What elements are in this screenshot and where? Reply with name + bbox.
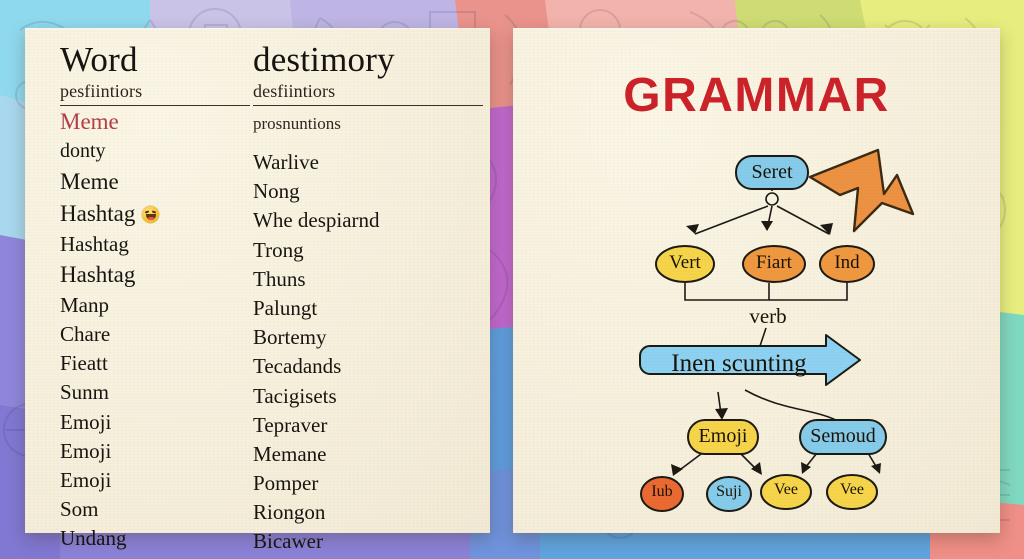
node-banner-inen-scunting[interactable] <box>640 335 860 385</box>
banner-to-semoud-connector <box>745 390 836 420</box>
entry-hashtag-emoji[interactable]: Hashtag <box>60 198 250 230</box>
entry-bicawer[interactable]: Bicawer <box>253 527 483 556</box>
entry-chare[interactable]: Chare <box>60 320 250 349</box>
emoji-children-arrowheads <box>671 462 762 476</box>
poster-stage: Word pesfiintiors Meme donty Meme Hashta… <box>0 0 1024 559</box>
node-fiart[interactable] <box>743 246 805 282</box>
entry-trong[interactable]: Trong <box>253 236 483 265</box>
column-2-pronunciation: prosnuntions <box>253 114 483 134</box>
node-vee-1[interactable] <box>761 475 811 509</box>
entry-tacigisets[interactable]: Tacigisets <box>253 382 483 411</box>
entry-warlive[interactable]: Warlive <box>253 148 483 177</box>
entry-riongon[interactable]: Riongon <box>253 498 483 527</box>
entry-donty[interactable]: donty <box>60 138 250 166</box>
entry-undang[interactable]: Undang <box>60 524 250 553</box>
dictionary-body: Word pesfiintiors Meme donty Meme Hashta… <box>25 28 490 533</box>
entry-thuns[interactable]: Thuns <box>253 265 483 294</box>
node-semoud[interactable] <box>800 420 886 454</box>
column-2-subhead: desfiintiors <box>253 81 483 102</box>
entry-manp[interactable]: Manp <box>60 291 250 320</box>
node-vee-2[interactable] <box>827 475 877 509</box>
entry-som[interactable]: Som <box>60 495 250 524</box>
entry-fieatt[interactable]: Fieatt <box>60 349 250 378</box>
entry-sunm[interactable]: Sunm <box>60 378 250 407</box>
banner-to-emoji-arrowhead <box>715 408 728 420</box>
connector-arrowheads <box>686 221 833 235</box>
dictionary-column-1: Word pesfiintiors Meme donty Meme Hashta… <box>60 28 250 559</box>
zigzag-arrow-icon <box>810 150 913 231</box>
entry-whe-despiarnd[interactable]: Whe despiarnd <box>253 206 483 235</box>
entry-emoji-3[interactable]: Emoji <box>60 466 250 495</box>
entry-tecadands[interactable]: Tecadands <box>253 352 483 381</box>
grinning-squinting-face-icon <box>142 206 159 223</box>
node-emoji[interactable] <box>688 420 758 454</box>
entry-meme[interactable]: Meme <box>60 166 250 198</box>
dictionary-column-2: destimory desfiintiors prosnuntions Warl… <box>253 28 483 559</box>
entry-emoji-2[interactable]: Emoji <box>60 437 250 466</box>
node-suji[interactable] <box>707 477 751 511</box>
semoud-children-arrowheads <box>801 462 881 474</box>
entry-hashtag-3[interactable]: Hashtag <box>60 259 250 291</box>
column-2-divider <box>253 105 483 106</box>
entry-tepraver[interactable]: Tepraver <box>253 411 483 440</box>
entry-memane[interactable]: Memane <box>253 440 483 469</box>
column-1-headword: Word <box>60 28 250 77</box>
column-2-spacer <box>253 134 483 148</box>
entry-emoji-1[interactable]: Emoji <box>60 408 250 437</box>
entry-emoji-4[interactable]: Emoji <box>60 554 250 559</box>
grammar-diagram: Seret Vert Fiart Ind verb Inen scunting … <box>513 28 1000 533</box>
entry-nong[interactable]: Nong <box>253 177 483 206</box>
entry-meme-accent[interactable]: Meme <box>60 106 250 138</box>
entry-palungt[interactable]: Palungt <box>253 294 483 323</box>
grammar-card: GRAMMAR <box>513 28 1000 533</box>
junction-marker-icon <box>766 193 778 205</box>
node-vert[interactable] <box>656 246 714 282</box>
entry-bortemy[interactable]: Bortemy <box>253 323 483 352</box>
node-seret[interactable] <box>736 156 808 189</box>
entry-hashtag-emoji-label: Hashtag <box>60 201 135 226</box>
dictionary-card: Word pesfiintiors Meme donty Meme Hashta… <box>25 28 490 533</box>
entry-hashtag-2[interactable]: Hashtag <box>60 230 250 259</box>
node-iub[interactable] <box>641 477 683 511</box>
column-1-subhead: pesfiintiors <box>60 81 250 102</box>
node-ind[interactable] <box>820 246 874 282</box>
column-2-headword: destimory <box>253 28 483 77</box>
grammar-diagram-svg <box>513 28 1000 533</box>
entry-pomper[interactable]: Pomper <box>253 469 483 498</box>
